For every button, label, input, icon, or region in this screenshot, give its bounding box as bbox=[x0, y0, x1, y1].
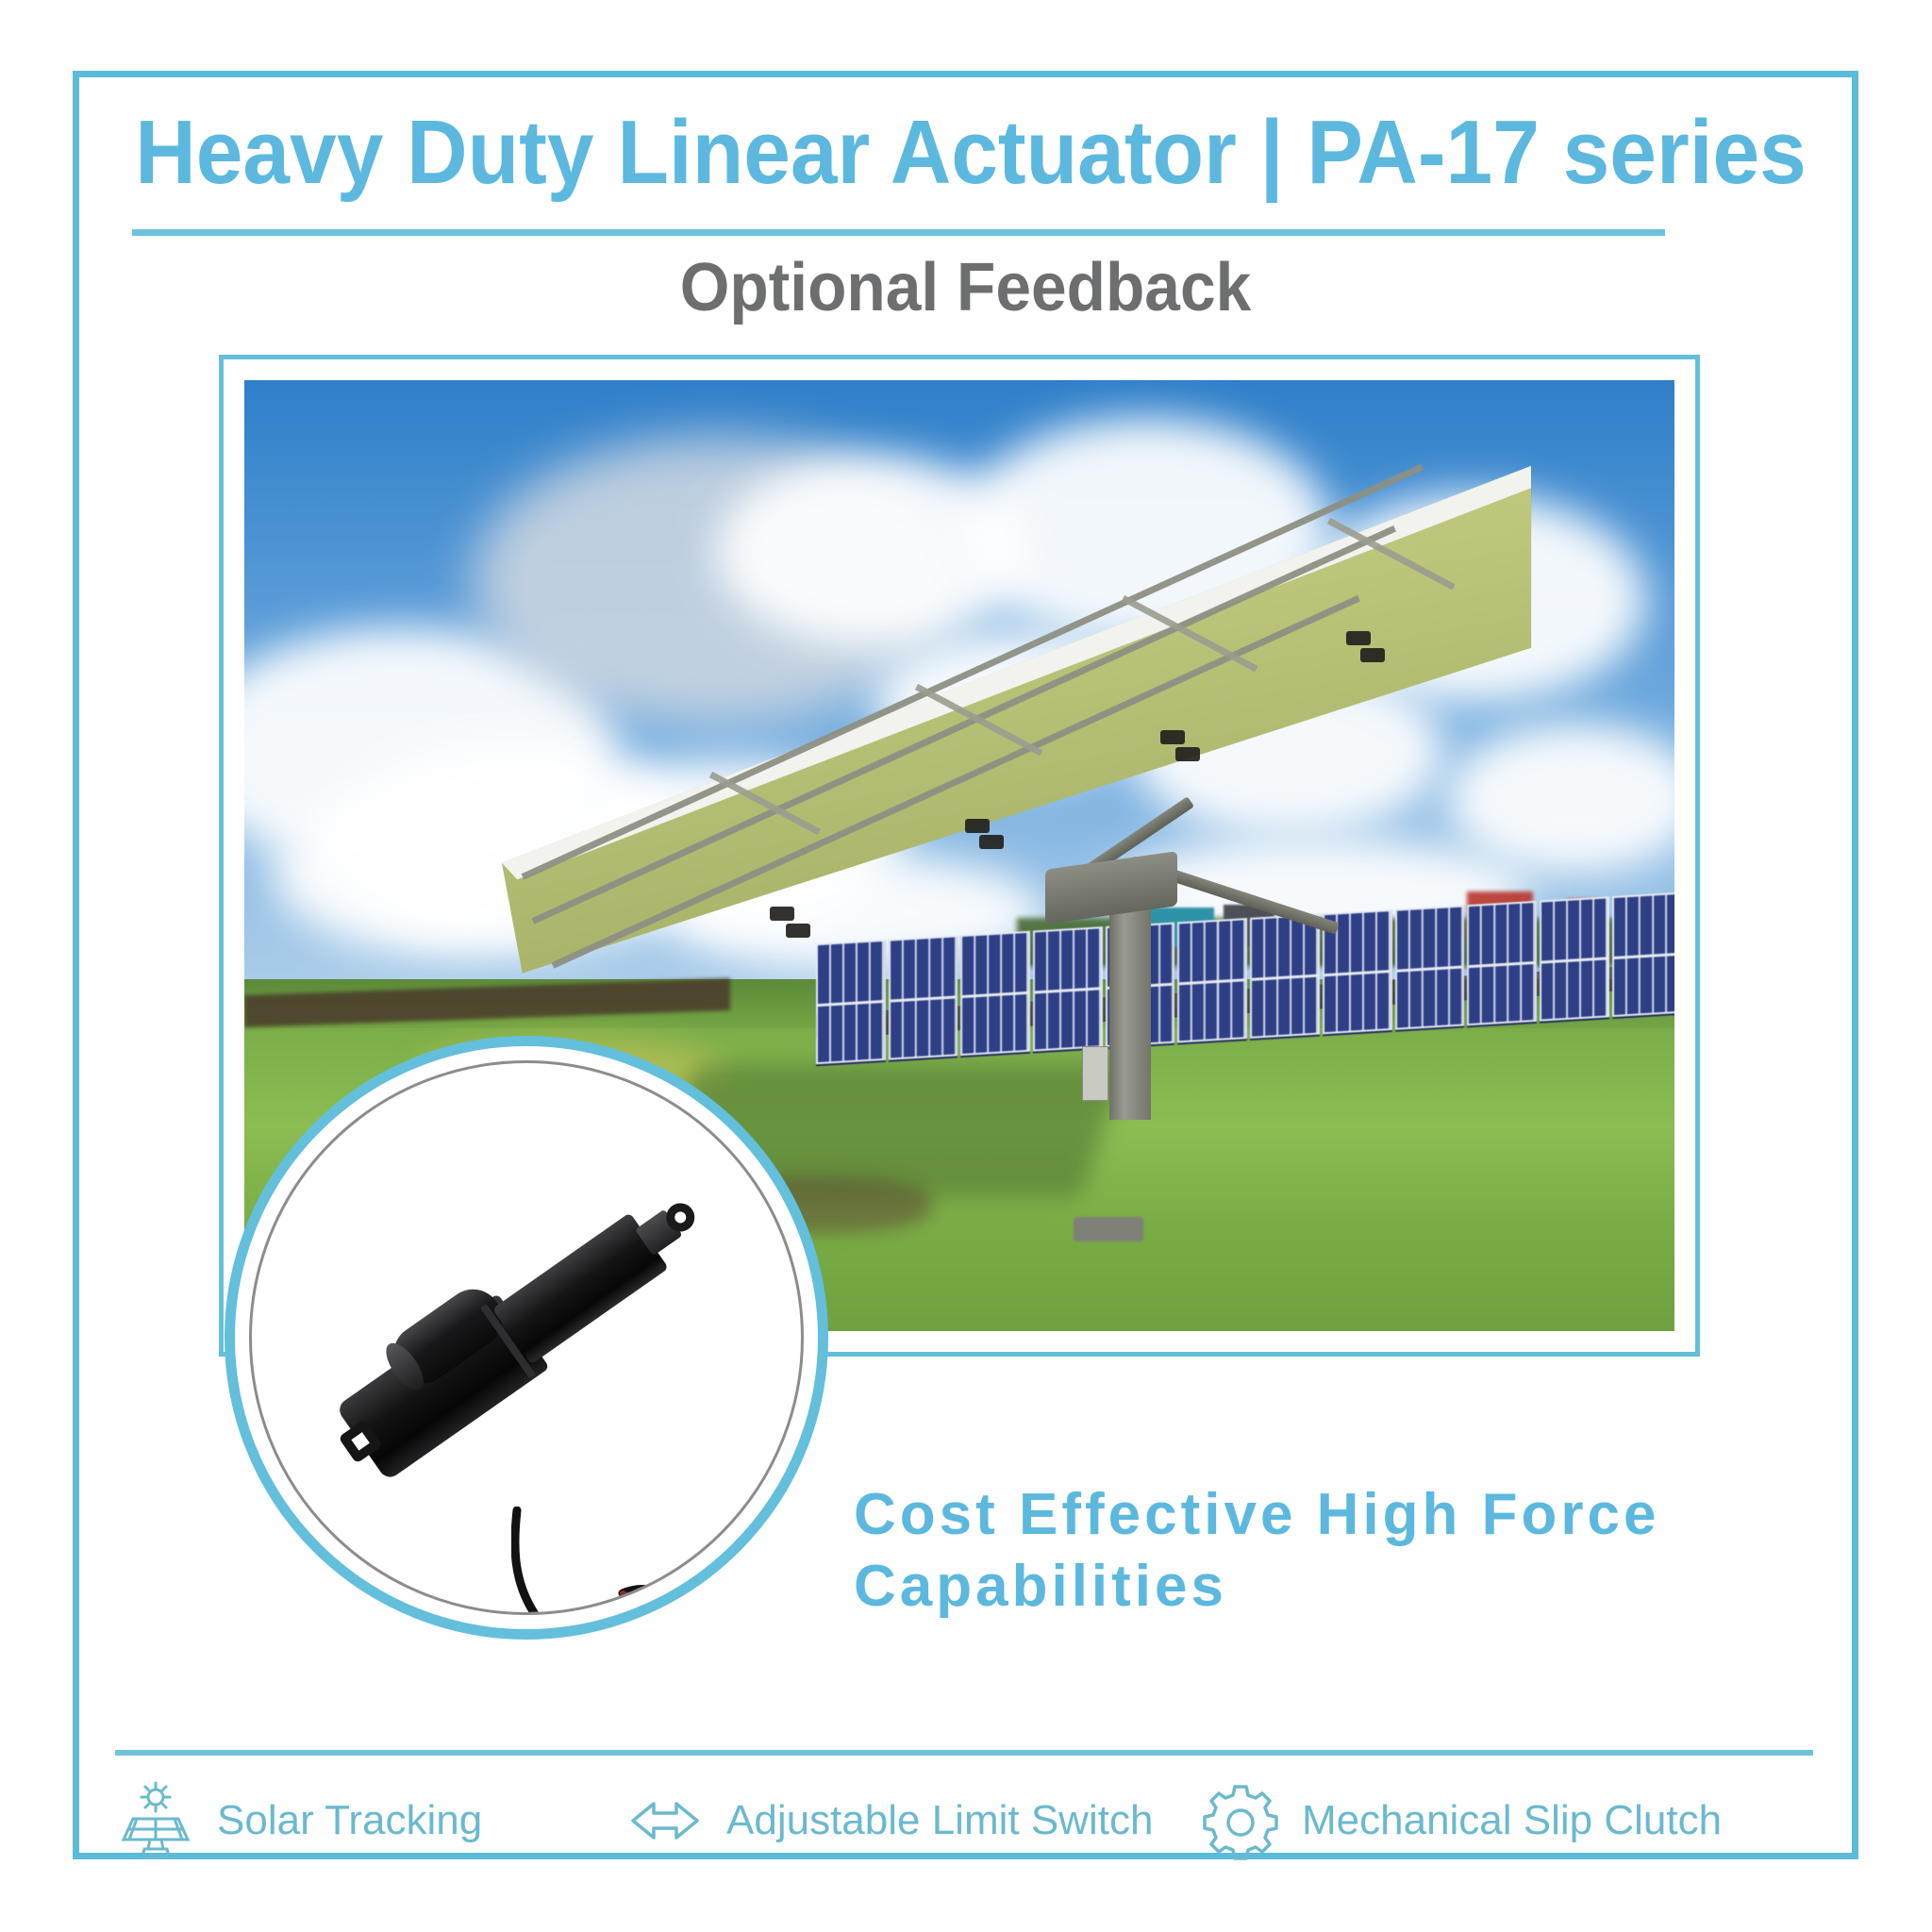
solar-tracker-panel bbox=[502, 466, 1532, 1018]
page-subtitle: Optional Feedback bbox=[126, 250, 1805, 325]
tagline: Cost Effective High Force Capabilities bbox=[854, 1479, 1797, 1623]
feature-label: Adjustable Limit Switch bbox=[726, 1797, 1153, 1844]
double-arrow-icon bbox=[625, 1780, 706, 1861]
controller-box bbox=[1082, 1046, 1108, 1101]
feature-adjustable-limit-switch: Adjustable Limit Switch bbox=[625, 1780, 1200, 1861]
product-poster: Heavy Duty Linear Actuator | PA-17 serie… bbox=[0, 0, 1932, 1932]
feature-bar-divider bbox=[115, 1750, 1813, 1756]
feature-label: Mechanical Slip Clutch bbox=[1302, 1797, 1722, 1844]
product-inset bbox=[225, 1036, 828, 1640]
feature-bar: Solar Tracking Adjustable Limit Switch M… bbox=[115, 1769, 1813, 1873]
inset-inner-circle bbox=[249, 1060, 804, 1615]
tagline-line-2: Capabilities bbox=[854, 1551, 1797, 1623]
tagline-line-1: Cost Effective High Force bbox=[854, 1479, 1797, 1551]
page-title: Heavy Duty Linear Actuator | PA-17 serie… bbox=[135, 104, 1795, 202]
gear-icon bbox=[1200, 1780, 1281, 1861]
power-cable bbox=[511, 1507, 709, 1615]
title-divider bbox=[132, 229, 1665, 236]
solar-panel-icon bbox=[115, 1780, 196, 1861]
feature-label: Solar Tracking bbox=[217, 1797, 482, 1844]
linear-actuator-icon bbox=[323, 1157, 731, 1497]
feature-mechanical-slip-clutch: Mechanical Slip Clutch bbox=[1200, 1780, 1813, 1861]
feature-solar-tracking: Solar Tracking bbox=[115, 1780, 625, 1861]
